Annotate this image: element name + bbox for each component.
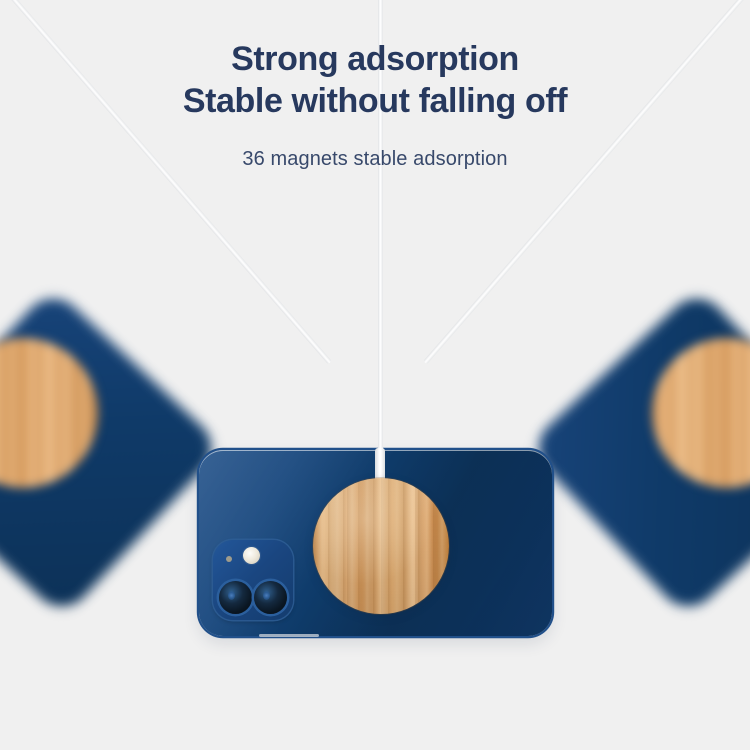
- headline-line-2: Stable without falling off: [0, 80, 750, 122]
- camera-lens-ultrawide-icon: [254, 581, 287, 614]
- bamboo-wireless-charger-disc: [313, 478, 449, 614]
- disc-shading-overlay: [313, 478, 449, 614]
- microphone-dot-icon: [226, 556, 232, 562]
- camera-module: [213, 540, 293, 620]
- page-subheadline: 36 magnets stable adsorption: [0, 148, 750, 171]
- camera-lens-wide-icon: [219, 581, 252, 614]
- camera-flash-icon: [243, 547, 260, 564]
- charger-cable-connector: [375, 448, 385, 482]
- product-marketing-banner: Strong adsorption Stable without falling…: [0, 0, 750, 750]
- page-headline: Strong adsorption Stable without falling…: [0, 38, 750, 122]
- headline-line-1: Strong adsorption: [0, 38, 750, 80]
- phone-bottom-antenna-line: [259, 634, 319, 637]
